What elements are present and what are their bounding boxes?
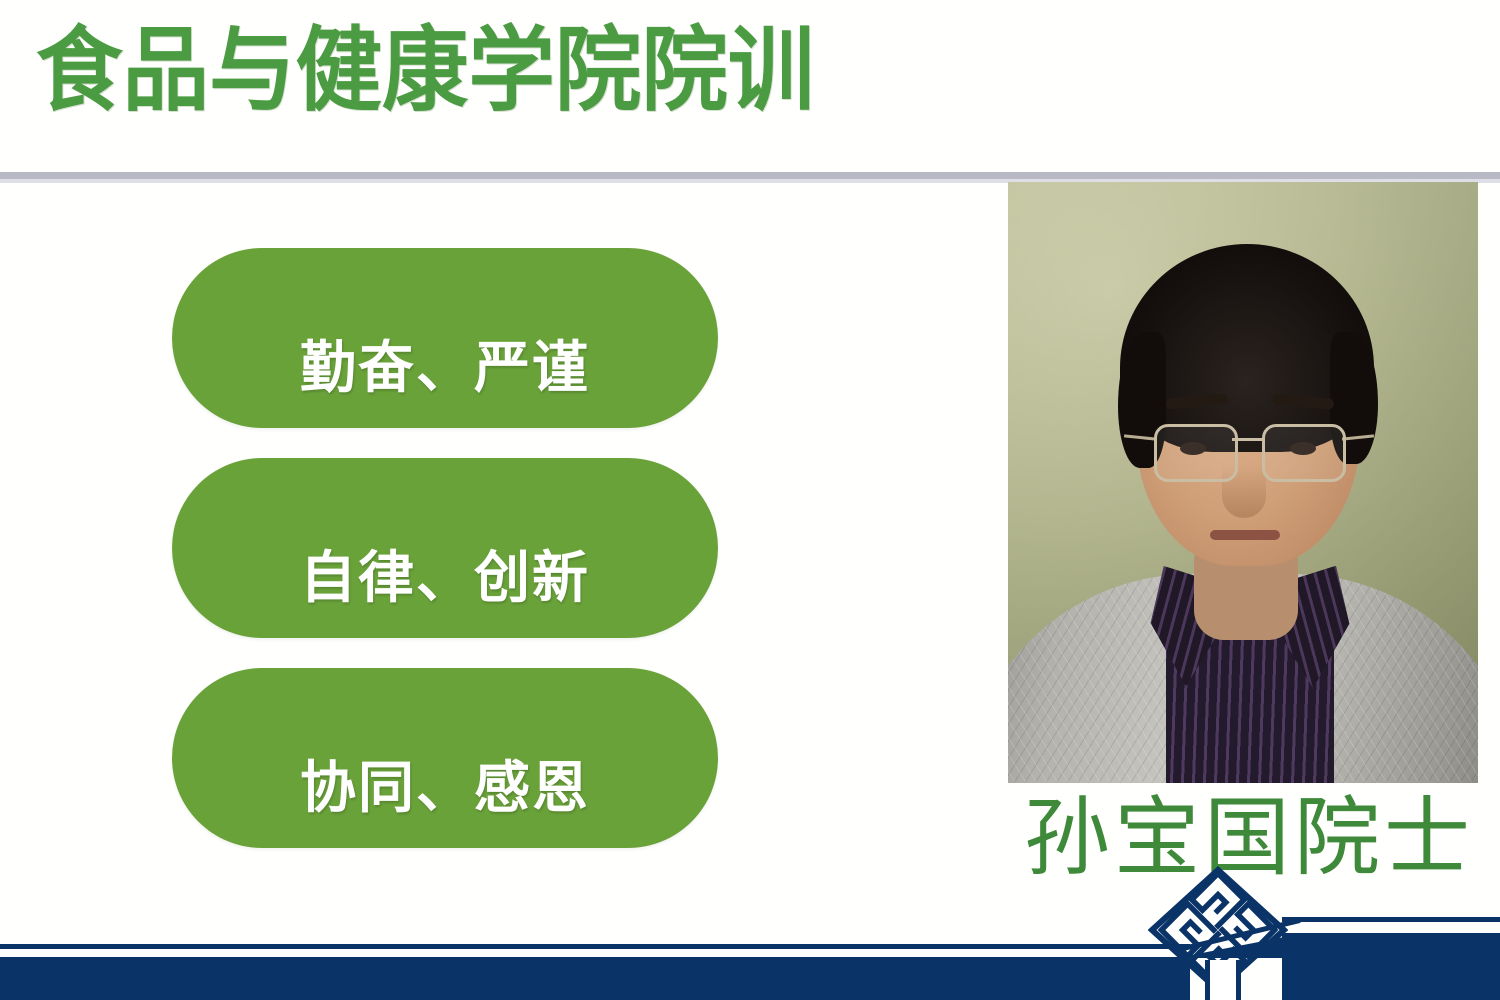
motto-pill-2[interactable]: 自律、创新	[172, 458, 718, 638]
photo-mouth	[1210, 530, 1280, 540]
motto-label: 协同、感恩	[172, 760, 718, 816]
photo-glasses-bridge	[1232, 438, 1262, 441]
slide-header: 食品与健康学院院训	[0, 0, 1500, 172]
motto-pill-3[interactable]: 协同、感恩	[172, 668, 718, 848]
photo-glasses-lens-right	[1262, 424, 1346, 482]
footer-left-thin-line	[0, 944, 1190, 949]
ornament-stem	[1205, 960, 1241, 1000]
slide-canvas: 食品与健康学院院训 勤奋、严谨 自律、创新 协同、感恩	[0, 0, 1500, 1000]
motto-label: 自律、创新	[172, 550, 718, 606]
portrait-photo	[1008, 182, 1478, 783]
page-title: 食品与健康学院院训	[36, 16, 814, 126]
motto-list: 勤奋、严谨 自律、创新 协同、感恩	[172, 248, 720, 878]
motto-label: 勤奋、严谨	[172, 340, 718, 396]
header-divider	[0, 172, 1500, 179]
footer-right-bar	[1282, 933, 1500, 1000]
photo-glasses-lens-left	[1154, 424, 1238, 482]
footer-left-bar	[0, 957, 1190, 1000]
footer-right-thin-line	[1282, 917, 1500, 922]
motto-pill-1[interactable]: 勤奋、严谨	[172, 248, 718, 428]
